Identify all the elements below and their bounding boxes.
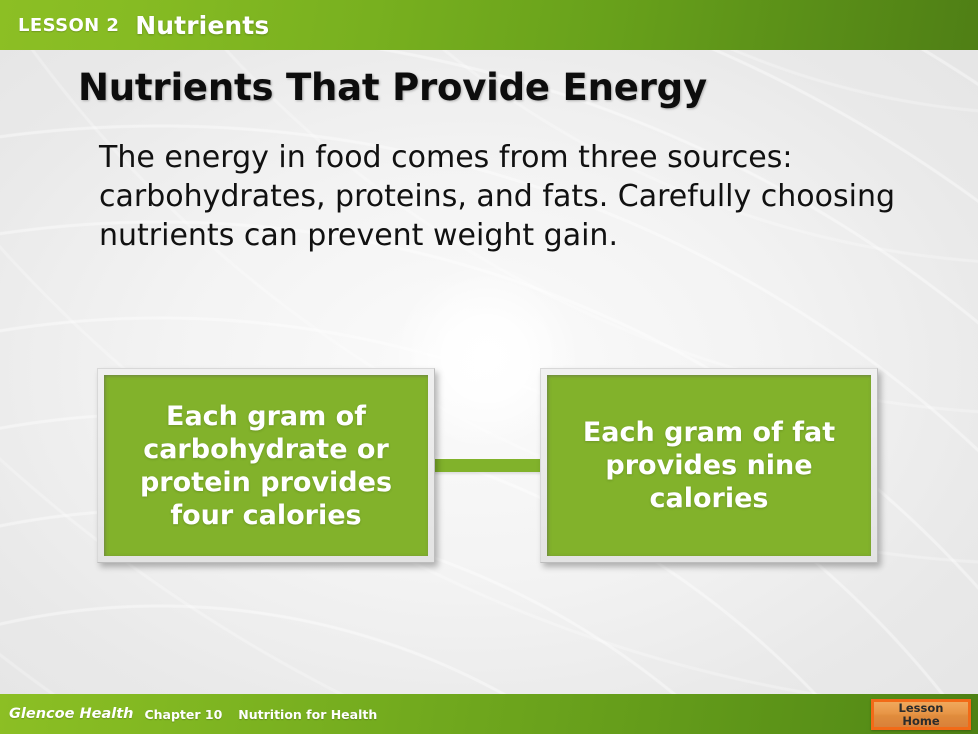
footer-subject-label: Nutrition for Health xyxy=(238,707,377,722)
slide-footer-bar: Glencoe Health Chapter 10 Nutrition for … xyxy=(0,694,978,734)
process-box-label: Each gram of fat provides nine calories xyxy=(547,416,871,515)
lesson-title-label: Nutrients xyxy=(135,11,269,40)
lesson-number-label: LESSON 2 xyxy=(18,15,119,36)
page-title: Nutrients That Provide Energy xyxy=(78,66,707,109)
slide-body-text: The energy in food comes from three sour… xyxy=(99,138,899,255)
footer-chapter-label: Chapter 10 xyxy=(144,707,222,722)
lesson-home-button-line2: Home xyxy=(902,715,939,728)
slide-header-bar: LESSON 2 Nutrients xyxy=(0,0,978,50)
slide-canvas: LESSON 2 Nutrients Nutrients That Provid… xyxy=(0,0,978,734)
slide-background xyxy=(0,0,978,734)
process-box-fill: Each gram of fat provides nine calories xyxy=(547,375,871,556)
process-box-label: Each gram of carbohydrate or protein pro… xyxy=(104,400,428,532)
process-box-fat: Each gram of fat provides nine calories xyxy=(540,368,878,563)
lesson-home-button[interactable]: Lesson Home xyxy=(871,699,971,730)
process-box-fill: Each gram of carbohydrate or protein pro… xyxy=(104,375,428,556)
footer-brand-label: Glencoe Health xyxy=(9,706,133,722)
process-box-carbohydrate-protein: Each gram of carbohydrate or protein pro… xyxy=(97,368,435,563)
lesson-home-button-line1: Lesson xyxy=(899,702,944,715)
